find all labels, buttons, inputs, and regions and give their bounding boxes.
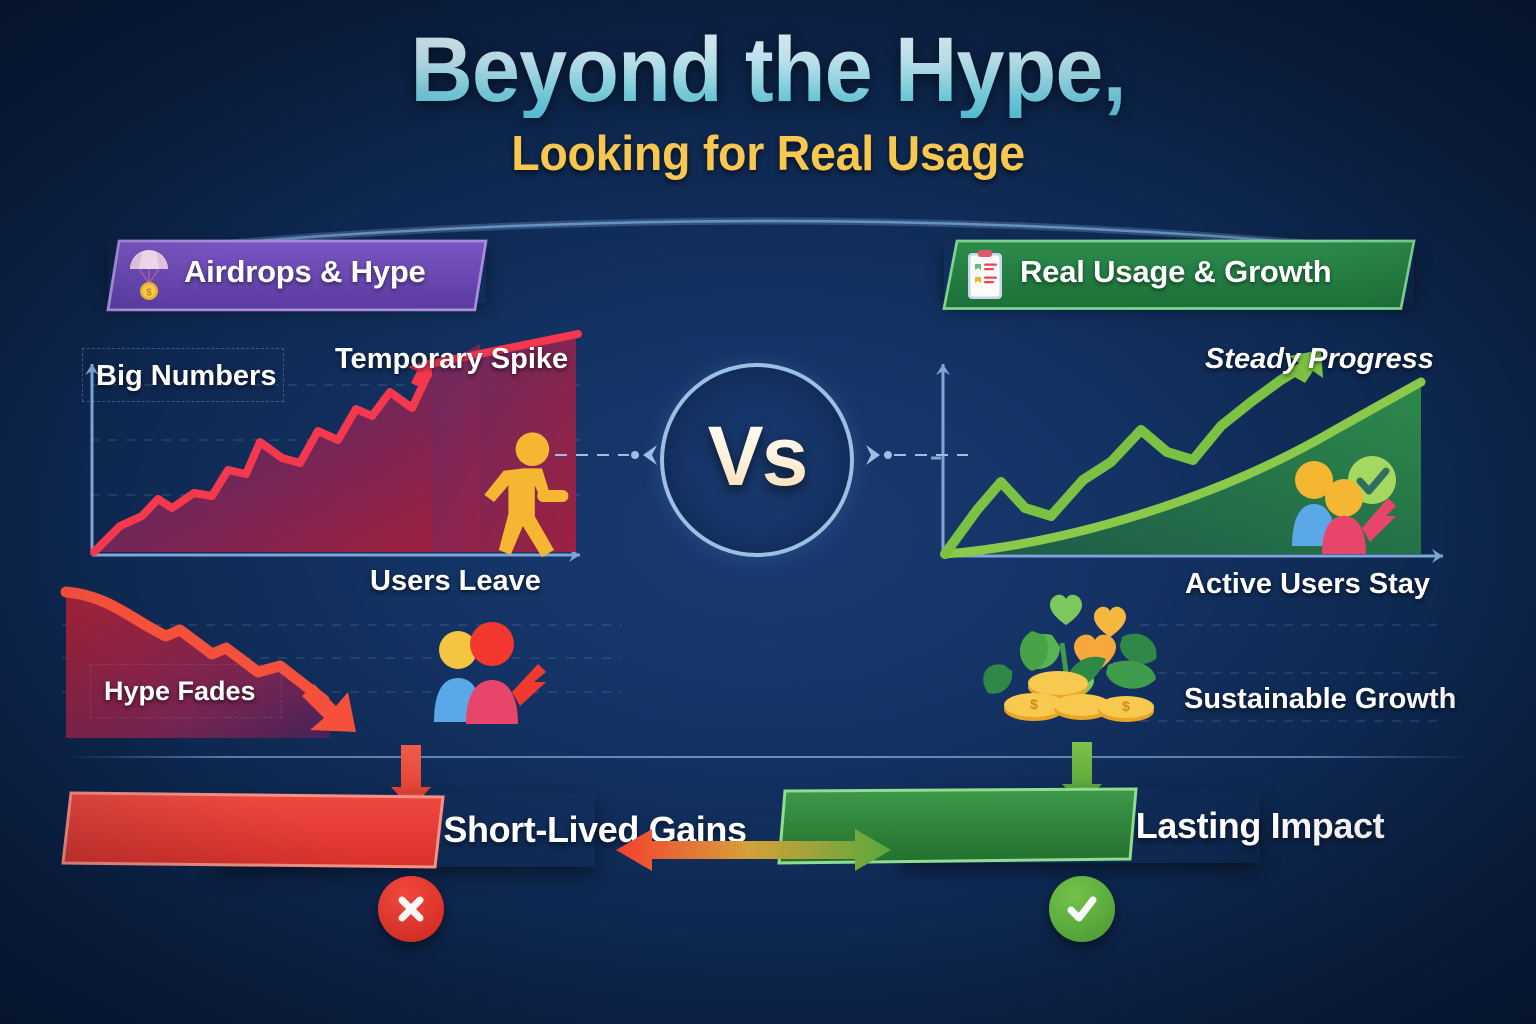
chart-right-peak-label: Steady Progress — [1205, 344, 1375, 375]
banner-short-lived-gains[interactable]: Short-Lived Gains — [215, 793, 595, 867]
infographic-canvas: Beyond the Hype, Looking for Real Usage — [0, 0, 1536, 1024]
chart-hype-spike: Big Numbers Temporary Spike Users Leave — [60, 330, 600, 590]
chart-hype-fades: Hype Fades — [62, 580, 622, 760]
svg-text:$: $ — [1030, 696, 1038, 712]
clipboard-checklist-icon — [962, 249, 1008, 295]
page-subtitle: Looking for Real Usage — [38, 126, 1497, 182]
vs-connector-left — [555, 440, 665, 470]
badge-right-label: Real Usage & Growth — [1020, 254, 1331, 290]
plant-coins-hearts-icon: $ $ — [974, 583, 1184, 743]
check-icon — [1064, 891, 1100, 927]
chart-steady-growth: Steady Progress Active Users Stay — [915, 330, 1460, 590]
banner-right-label: Lasting Impact — [1136, 805, 1384, 847]
parachute-coin-icon: $ — [126, 249, 172, 295]
page-title: Beyond the Hype, — [46, 24, 1490, 118]
two-people-waving-icon — [420, 622, 550, 730]
badge-airdrops-hype[interactable]: $ Airdrops & Hype — [108, 241, 486, 303]
banner-left-shape — [63, 793, 443, 867]
status-badge-check — [1049, 876, 1115, 942]
chart-left-ylabel-box — [82, 348, 284, 402]
svg-text:$: $ — [1122, 698, 1130, 714]
badge-left-label: Airdrops & Hype — [184, 254, 426, 290]
title-block: Beyond the Hype, Looking for Real Usage — [0, 24, 1536, 182]
badge-real-usage-growth[interactable]: Real Usage & Growth — [944, 241, 1414, 303]
section-divider — [62, 756, 1474, 758]
svg-text:$: $ — [146, 288, 152, 299]
compare-double-arrow — [616, 825, 891, 875]
chart-fall-label-box — [90, 664, 282, 718]
chart-left-peak-label: Temporary Spike — [335, 344, 485, 375]
banner-lasting-impact[interactable]: Lasting Impact — [903, 789, 1260, 863]
vs-label: Vs — [708, 408, 807, 505]
status-badge-cross — [378, 876, 444, 942]
vs-connector-right — [858, 440, 968, 470]
vs-badge: Vs — [660, 363, 854, 557]
sustainable-growth-group: $ $ Sustainable Growth — [960, 575, 1460, 760]
cross-icon — [394, 892, 428, 926]
two-people-check-icon — [1270, 450, 1410, 560]
sustainable-growth-label: Sustainable Growth — [1184, 683, 1456, 716]
